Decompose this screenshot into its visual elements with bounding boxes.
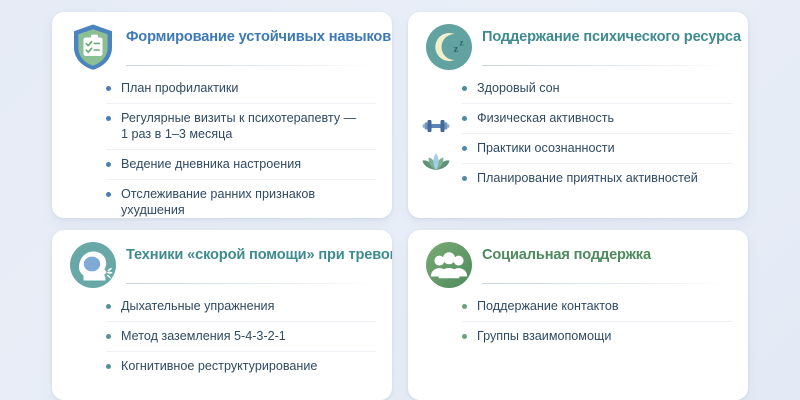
card-social-support[interactable]: Социальная поддержка Поддержание контакт… — [408, 230, 748, 400]
card-grid: Формирование устойчивых навыков План про… — [24, 12, 776, 400]
list-item-label: Метод заземления 5-4-3-2-1 — [121, 329, 286, 343]
list-item-label: Регулярные визиты к психотерапевту — — [121, 111, 356, 125]
card-header: Поддержание психического ресурса — [482, 26, 732, 60]
list-item-label: Здоровый сон — [477, 81, 560, 95]
list-item-label: Группы взаимопомощи — [477, 329, 611, 343]
list-item-label: Отслеживание ранних признаков ухудшения — [121, 187, 315, 217]
list-item[interactable]: Группы взаимопомощи — [462, 321, 732, 351]
list-item-label-line2: 1 раз в 1–3 месяца — [121, 126, 376, 142]
card-header: Техники «скорой помощи» при тревоге — [126, 244, 376, 278]
list-item[interactable]: План профилактики — [106, 74, 376, 103]
list-item-label: Ведение дневника настроения — [121, 157, 301, 171]
infographic-board: Формирование устойчивых навыков План про… — [0, 0, 800, 400]
list-item[interactable]: Когнитивное реструктурирование — [106, 351, 376, 381]
shield-checklist-icon — [68, 22, 118, 72]
list-item-label: Практики осознанности — [477, 141, 615, 155]
list-item[interactable]: Ведение дневника настроения — [106, 149, 376, 179]
moon-sleep-icon: z z — [424, 22, 474, 72]
list-item-label: План профилактики — [121, 81, 238, 95]
list-item[interactable]: Физическая активность — [462, 103, 732, 133]
svg-text:z: z — [460, 38, 464, 48]
list-item[interactable]: Отслеживание ранних признаков ухудшения — [106, 179, 376, 218]
list-item[interactable]: Регулярные визиты к психотерапевту — 1 р… — [106, 103, 376, 149]
list-item[interactable]: Метод заземления 5-4-3-2-1 — [106, 321, 376, 351]
page-title: Социальная поддержка — [482, 244, 732, 266]
people-group-icon — [424, 240, 474, 290]
page-title: Поддержание психического ресурса — [482, 26, 732, 48]
page-title: Формирование устойчивых навыков — [126, 26, 376, 48]
list-item-label: Физическая активность — [477, 111, 614, 125]
checklist: Поддержание контактов Группы взаимопомощ… — [424, 284, 732, 351]
checklist: Дыхательные упражнения Метод заземления … — [68, 284, 376, 381]
svg-text:z: z — [454, 43, 459, 55]
list-item[interactable]: Практики осознанности — [462, 133, 732, 163]
list-item-label: Когнитивное реструктурирование — [121, 359, 317, 373]
card-emergency-techniques[interactable]: Техники «скорой помощи» при тревоге Дыха… — [52, 230, 392, 400]
card-mental-resource[interactable]: z z — [408, 12, 748, 218]
list-item[interactable]: Планирование приятных активностей — [462, 163, 732, 193]
checklist: План профилактики Регулярные визиты к пс… — [68, 66, 376, 218]
list-item[interactable]: Дыхательные упражнения — [106, 292, 376, 321]
dumbbell-icon — [421, 113, 451, 139]
list-item-label: Планирование приятных активностей — [477, 171, 698, 185]
lotus-icon — [421, 148, 451, 174]
list-item[interactable]: Поддержание контактов — [462, 292, 732, 321]
list-item-label: Дыхательные упражнения — [121, 299, 274, 313]
list-item-label: Поддержание контактов — [477, 299, 619, 313]
head-breathing-icon — [68, 240, 118, 290]
card-header: Формирование устойчивых навыков — [126, 26, 376, 60]
page-title: Техники «скорой помощи» при тревоге — [126, 244, 376, 266]
card-header: Социальная поддержка — [482, 244, 732, 278]
list-item[interactable]: Здоровый сон — [462, 74, 732, 103]
card-sustainable-skills[interactable]: Формирование устойчивых навыков План про… — [52, 12, 392, 218]
checklist: Здоровый сон Физическая активность Практ… — [424, 66, 732, 193]
